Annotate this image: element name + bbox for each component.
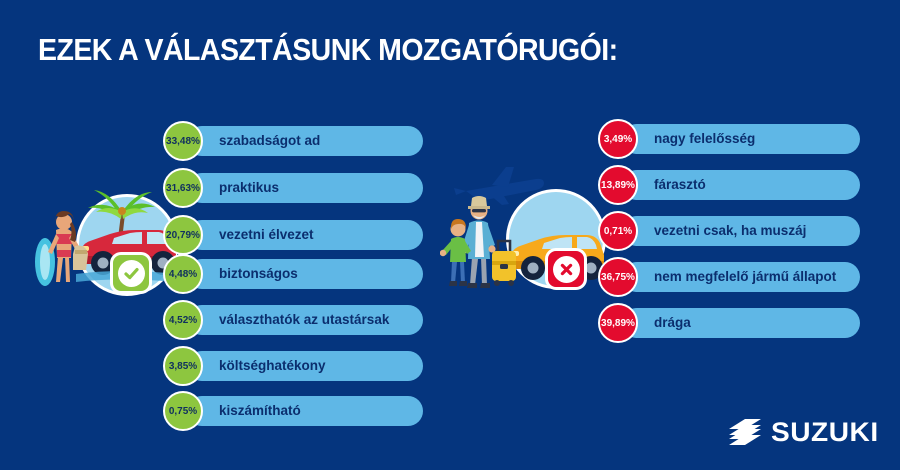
suzuki-wordmark: SUZUKI: [771, 417, 879, 448]
percent-badge: 13,89%: [598, 165, 638, 205]
list-item[interactable]: 0,71% vezetni csak, ha muszáj: [598, 216, 860, 246]
percent-badge: 0,71%: [598, 211, 638, 251]
list-item[interactable]: 20,79% vezetni élvezet: [163, 220, 423, 250]
vacation-illustration: [18, 178, 178, 296]
list-item[interactable]: 31,63% praktikus: [163, 173, 423, 203]
airplane-silhouette: [454, 167, 544, 205]
list-item[interactable]: 4,48% biztonságos: [163, 259, 423, 289]
reason-label: vezetni élvezet: [219, 220, 314, 250]
percent-badge: 20,79%: [163, 215, 203, 255]
percent-badge: 0,75%: [163, 391, 203, 431]
percent-badge: 4,48%: [163, 254, 203, 294]
percent-badge: 4,52%: [163, 300, 203, 340]
list-item[interactable]: 36,75% nem megfelelő jármű állapot: [598, 262, 860, 292]
reason-label: nagy felelősség: [654, 124, 755, 154]
infographic-canvas: EZEK A VÁLASZTÁSUNK MOZGATÓRUGÓI:: [0, 0, 900, 470]
check-badge: [110, 252, 152, 294]
page-title: EZEK A VÁLASZTÁSUNK MOZGATÓRUGÓI:: [38, 32, 618, 68]
list-item[interactable]: 13,89% fárasztó: [598, 170, 860, 200]
suzuki-logo: SUZUKI: [728, 417, 875, 448]
reason-label: biztonságos: [219, 259, 298, 289]
percent-badge: 3,49%: [598, 119, 638, 159]
percent-badge: 36,75%: [598, 257, 638, 297]
reason-label: drága: [654, 308, 691, 338]
check-disc: [118, 260, 145, 287]
reason-label: szabadságot ad: [219, 126, 320, 156]
list-item[interactable]: 33,48% szabadságot ad: [163, 126, 423, 156]
list-item[interactable]: 4,52% választhatók az utastársak: [163, 305, 423, 335]
list-item[interactable]: 3,85% költséghatékony: [163, 351, 423, 381]
cross-icon: [558, 261, 575, 278]
reason-label: nem megfelelő jármű állapot: [654, 262, 836, 292]
list-item[interactable]: 39,89% drága: [598, 308, 860, 338]
cross-disc: [553, 256, 580, 283]
cross-badge: [545, 248, 587, 290]
reason-label: vezetni csak, ha muszáj: [654, 216, 806, 246]
vacation-scene: [18, 178, 178, 296]
check-icon: [123, 265, 140, 282]
reason-label: praktikus: [219, 173, 279, 203]
reason-label: fárasztó: [654, 170, 706, 200]
travel-scene: [440, 165, 605, 295]
percent-badge: 3,85%: [163, 346, 203, 386]
suzuki-s-emblem: [728, 418, 762, 448]
list-item[interactable]: 3,49% nagy felelősség: [598, 124, 860, 154]
percent-badge: 31,63%: [163, 168, 203, 208]
list-item[interactable]: 0,75% kiszámítható: [163, 396, 423, 426]
percent-badge: 39,89%: [598, 303, 638, 343]
reason-label: költséghatékony: [219, 351, 326, 381]
percent-badge: 33,48%: [163, 121, 203, 161]
reason-label: kiszámítható: [219, 396, 301, 426]
reason-label: választhatók az utastársak: [219, 305, 389, 335]
